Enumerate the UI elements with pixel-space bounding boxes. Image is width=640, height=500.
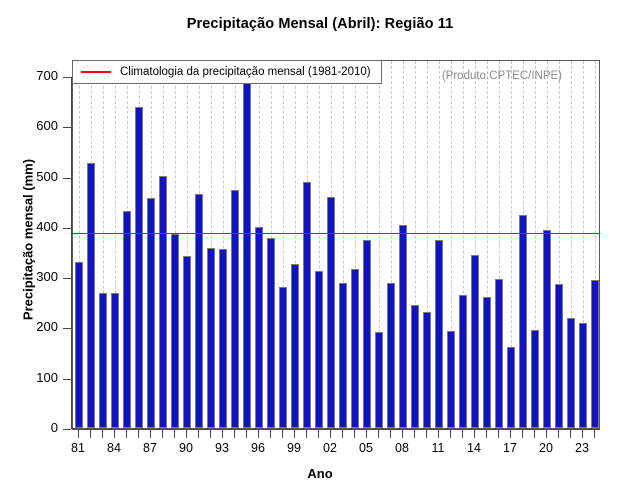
x-tick [426,430,427,438]
x-tick [162,430,163,438]
x-tick-label: 81 [63,441,93,455]
x-tick-label: 96 [243,441,273,455]
x-tick [270,430,271,438]
x-tick [486,430,487,438]
x-tick [438,430,439,438]
x-tick-label: 93 [207,441,237,455]
x-tick [582,430,583,438]
chart-page: Precipitação Mensal (Abril): Região 11 0… [0,0,640,500]
x-tick [558,430,559,438]
climatology-line-layer [73,61,599,428]
source-annotation: (Produto:CPTEC/INPE) [442,70,562,82]
legend-item-climatology: Climatologia da precipitação mensal (198… [120,66,371,78]
x-tick [330,430,331,438]
y-tick [63,127,71,128]
x-tick-label: 84 [99,441,129,455]
x-tick [198,430,199,438]
x-tick [282,430,283,438]
x-tick [462,430,463,438]
x-tick [546,430,547,438]
x-tick [90,430,91,438]
x-tick [594,430,595,438]
y-tick [63,328,71,329]
x-tick [402,430,403,438]
climatology-line-swatch [81,71,111,73]
x-tick-label: 17 [495,441,525,455]
y-tick [63,429,71,430]
climatology-line [73,233,599,234]
x-tick [354,430,355,438]
x-tick [450,430,451,438]
y-tick [63,278,71,279]
x-tick [186,430,187,438]
x-tick-label: 23 [567,441,597,455]
x-tick [534,430,535,438]
x-tick [174,430,175,438]
x-tick [78,430,79,438]
x-tick [522,430,523,438]
plot-area [72,60,600,429]
x-tick-label: 05 [351,441,381,455]
y-axis-line [71,77,72,429]
x-tick [414,430,415,438]
x-tick [342,430,343,438]
x-tick-label: 99 [279,441,309,455]
x-tick [114,430,115,438]
y-axis-title: Precipitação mensal (mm) [21,90,36,390]
x-tick [318,430,319,438]
x-tick [210,430,211,438]
legend: Climatologia da precipitação mensal (198… [72,60,382,84]
page-title: Precipitação Mensal (Abril): Região 11 [0,16,640,32]
x-tick [294,430,295,438]
x-tick [102,430,103,438]
x-tick-label: 90 [171,441,201,455]
x-tick [126,430,127,438]
x-tick [234,430,235,438]
x-tick [570,430,571,438]
x-tick [138,430,139,438]
x-tick [246,430,247,438]
x-tick [510,430,511,438]
x-tick [378,430,379,438]
y-tick [63,178,71,179]
x-tick [258,430,259,438]
y-tick-label: 700 [0,68,58,83]
x-tick [222,430,223,438]
x-tick-label: 14 [459,441,489,455]
x-tick [498,430,499,438]
x-tick [306,430,307,438]
x-tick [474,430,475,438]
x-tick-label: 20 [531,441,561,455]
y-tick [63,77,71,78]
x-tick [150,430,151,438]
x-tick-label: 02 [315,441,345,455]
x-tick-label: 08 [387,441,417,455]
x-tick-label: 87 [135,441,165,455]
y-tick [63,228,71,229]
x-axis-title: Ano [0,466,640,481]
x-tick [366,430,367,438]
y-tick-label: 0 [0,420,58,435]
y-tick [63,379,71,380]
x-axis-line [72,429,600,430]
x-tick-label: 11 [423,441,453,455]
x-tick [390,430,391,438]
